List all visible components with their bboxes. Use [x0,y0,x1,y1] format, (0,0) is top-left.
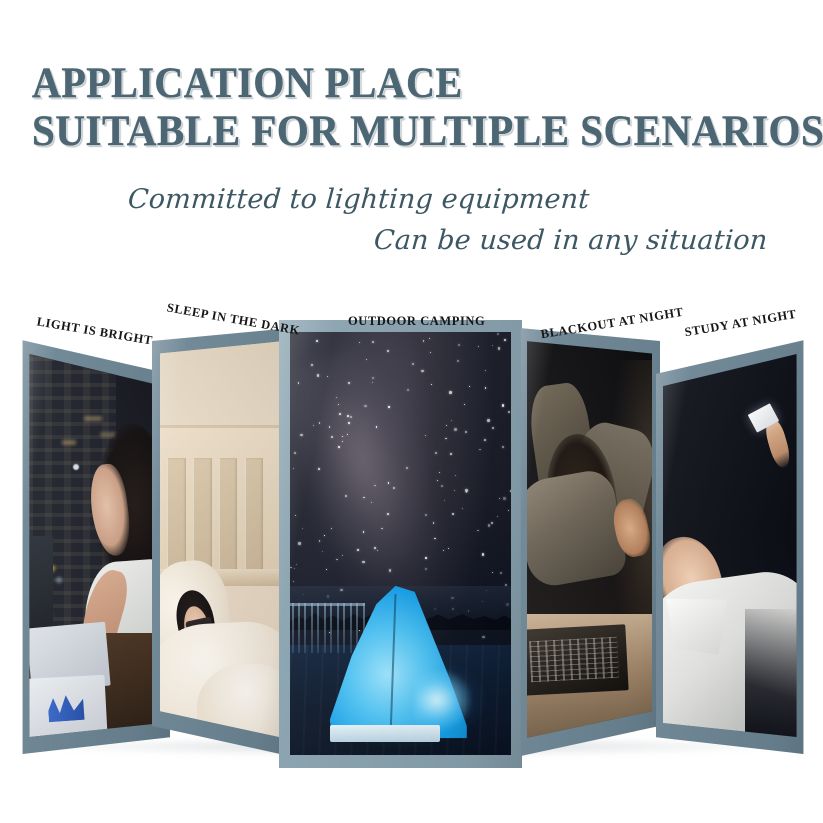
deck-railing [290,603,365,654]
scenario-panel-group: LIGHT IS BRIGHT SLEEP IN THE DARK OUTDOO… [0,300,823,800]
headline-block: APPLICATION PLACE SUITABLE FOR MULTIPLE … [32,62,812,153]
headline-line-1: APPLICATION PLACE [32,62,757,105]
panel-label-sleep-in-the-dark: SLEEP IN THE DARK [166,300,301,338]
panel-photo-light-is-bright [26,344,163,745]
subtitle-block: Committed to lighting equipment Can be u… [0,184,823,257]
panel-photo-sleep-in-the-dark [160,335,283,746]
scenario-panel-blackout-at-night[interactable] [518,326,660,756]
panel-label-outdoor-camping: OUTDOOR CAMPING [348,314,485,329]
scenario-panel-sleep-in-the-dark[interactable] [152,326,292,756]
banner-canvas: APPLICATION PLACE SUITABLE FOR MULTIPLE … [0,0,823,823]
scenario-panel-study-at-night[interactable] [656,334,808,754]
panel-label-blackout-at-night: BLACKOUT AT NIGHT [540,305,685,342]
panel-photo-study-at-night [663,344,800,745]
panel-label-light-is-bright: LIGHT IS BRIGHT [36,314,154,348]
panel-photo-blackout-at-night [527,335,652,746]
scenario-panel-outdoor-camping[interactable] [279,320,522,768]
scenario-panel-light-is-bright[interactable] [18,334,170,754]
panel-label-study-at-night: STUDY AT NIGHT [684,307,798,340]
panel-photo-outdoor-camping [290,332,511,755]
headline-line-2: SUITABLE FOR MULTIPLE SCENARIOS [32,110,777,153]
subtitle-line-1: Committed to lighting equipment [127,184,823,216]
subtitle-line-2: Can be used in any situation [373,225,823,257]
